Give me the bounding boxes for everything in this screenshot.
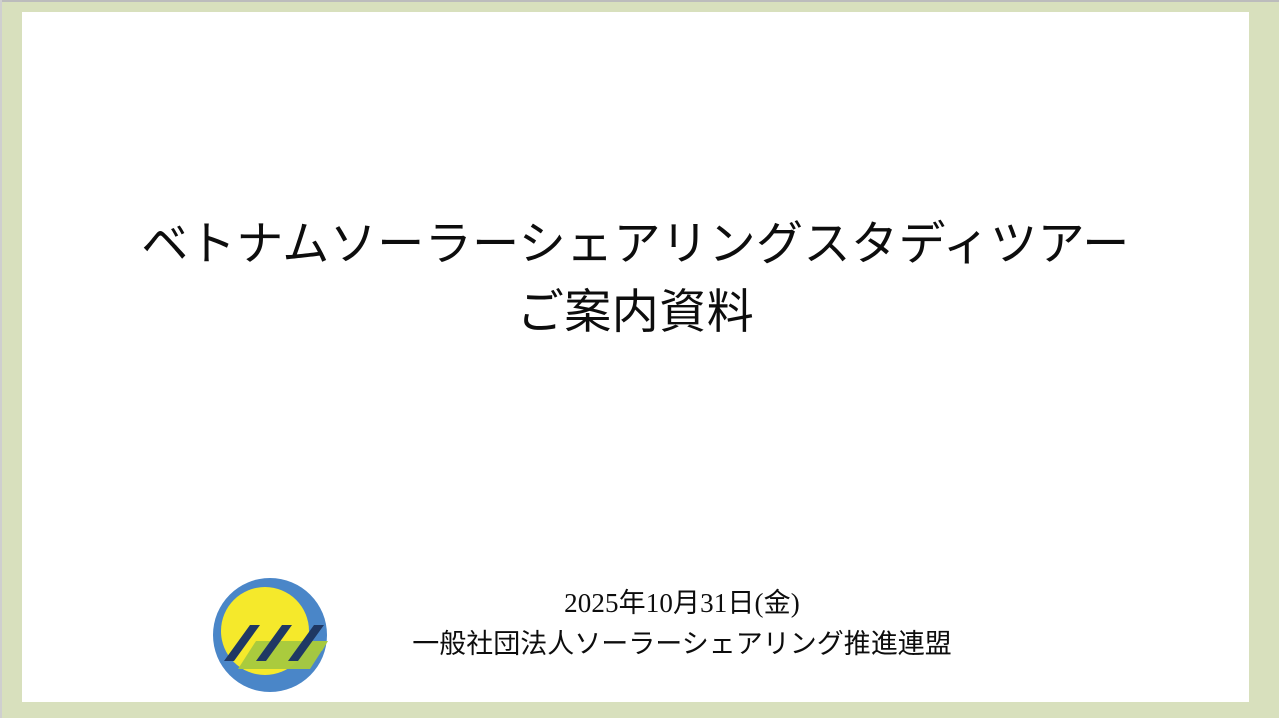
presentation-date: 2025年10月31日(金) [182, 583, 1182, 624]
page-title-line-2: ご案内資料 [22, 280, 1249, 348]
slide-canvas: ベトナムソーラーシェアリングスタディツアー ご案内資料 [22, 12, 1249, 702]
slide-left-rule [0, 0, 2, 718]
presentation-slide: ベトナムソーラーシェアリングスタディツアー ご案内資料 [0, 0, 1279, 718]
slide-footer: 2025年10月31日(金) 一般社団法人ソーラーシェアリング推進連盟 [22, 565, 1249, 695]
footer-text-block: 2025年10月31日(金) 一般社団法人ソーラーシェアリング推進連盟 [182, 583, 1182, 665]
page-title-line-1: ベトナムソーラーシェアリングスタディツアー [22, 212, 1249, 280]
slide-top-rule [0, 0, 1279, 2]
organization-name: 一般社団法人ソーラーシェアリング推進連盟 [182, 624, 1182, 665]
title-block: ベトナムソーラーシェアリングスタディツアー ご案内資料 [22, 212, 1249, 347]
